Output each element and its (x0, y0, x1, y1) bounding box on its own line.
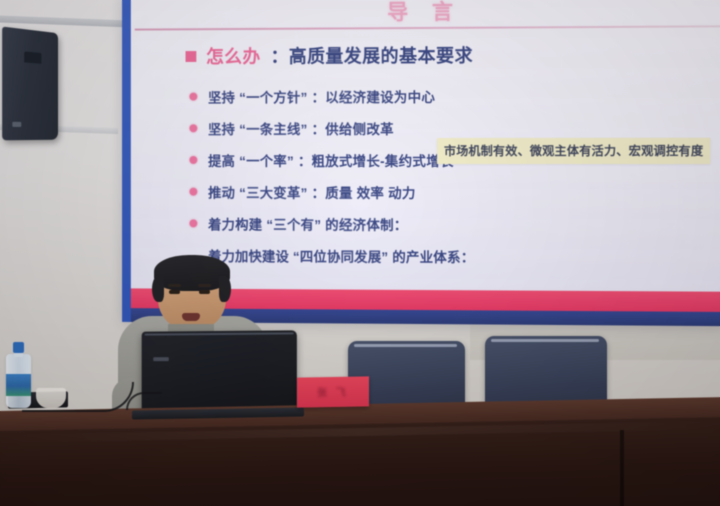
cable (22, 382, 134, 412)
bullet-text: 着力构建 “三个有” 的经济体制： (208, 214, 408, 234)
presenter-eye-right (199, 290, 210, 294)
slide-heading-rest: ：高质量发展的基本要求 (271, 42, 474, 69)
list-item: 着力构建 “三个有” 的经济体制： (189, 208, 720, 242)
laptop-screen (142, 330, 297, 415)
nameplate-text: 张 飞 (297, 383, 369, 399)
highlight-callout: 市场机制有效、微观主体有活力、宏观调控有度 (437, 138, 711, 164)
dot-bullet-icon (189, 93, 197, 101)
speaker-logo (12, 122, 21, 127)
list-item: 推动 “三大变革” ：质量 效率 动力 (189, 176, 720, 209)
slide-title: 导 言 (131, 0, 720, 28)
speaker-bracket (24, 51, 41, 63)
bullet-text: 推动 “三大变革” ：质量 效率 动力 (208, 182, 416, 202)
slide-bullet-list: 坚持 “一个方针” ：以经济建设为中心 坚持 “一条主线” ：供给侧改革 提高 … (189, 79, 720, 274)
desk-seam (620, 430, 624, 506)
slide-heading-key: 怎么办 (206, 43, 261, 69)
dot-bullet-icon (189, 219, 197, 227)
bottle-cap (13, 342, 24, 353)
presenter-eyebrow-right (198, 284, 211, 287)
bullet-text: 坚持 “一条主线” ：供给侧改革 (208, 118, 394, 138)
presenter-mouth (182, 313, 200, 321)
dot-bullet-icon (189, 188, 197, 196)
wall-speaker (2, 27, 58, 141)
list-item-trailing: 着力加快建设 “四位协同发展” 的产业体系： (189, 239, 720, 273)
chair-highlight (354, 344, 457, 347)
chair-highlight (491, 339, 599, 342)
laptop-logo (153, 357, 169, 361)
dot-bullet-icon (189, 156, 197, 164)
bullet-text: 坚持 “一个方针” ：以经济建设为中心 (208, 86, 435, 107)
dot-bullet-icon (189, 124, 197, 132)
presenter-eye-left (169, 290, 180, 294)
list-item: 坚持 “一个方针” ：以经济建设为中心 (189, 79, 720, 113)
laptop-bezel-edge (145, 332, 294, 335)
slide-heading: 怎么办 ：高质量发展的基本要求 (186, 42, 474, 69)
nameplate: 张 飞 (297, 376, 369, 407)
photograph: 导 言 怎么办 ：高质量发展的基本要求 坚持 “一个方针” ：以经济建设为中心 … (0, 0, 720, 506)
presenter-eyebrow-left (168, 284, 181, 287)
square-bullet-icon (186, 51, 197, 62)
presenter-hair-left (152, 276, 164, 302)
presenter-hair-right (219, 276, 231, 302)
bullet-text: 提高 “一个率” ：粗放式增长-集约式增长 (208, 150, 454, 170)
